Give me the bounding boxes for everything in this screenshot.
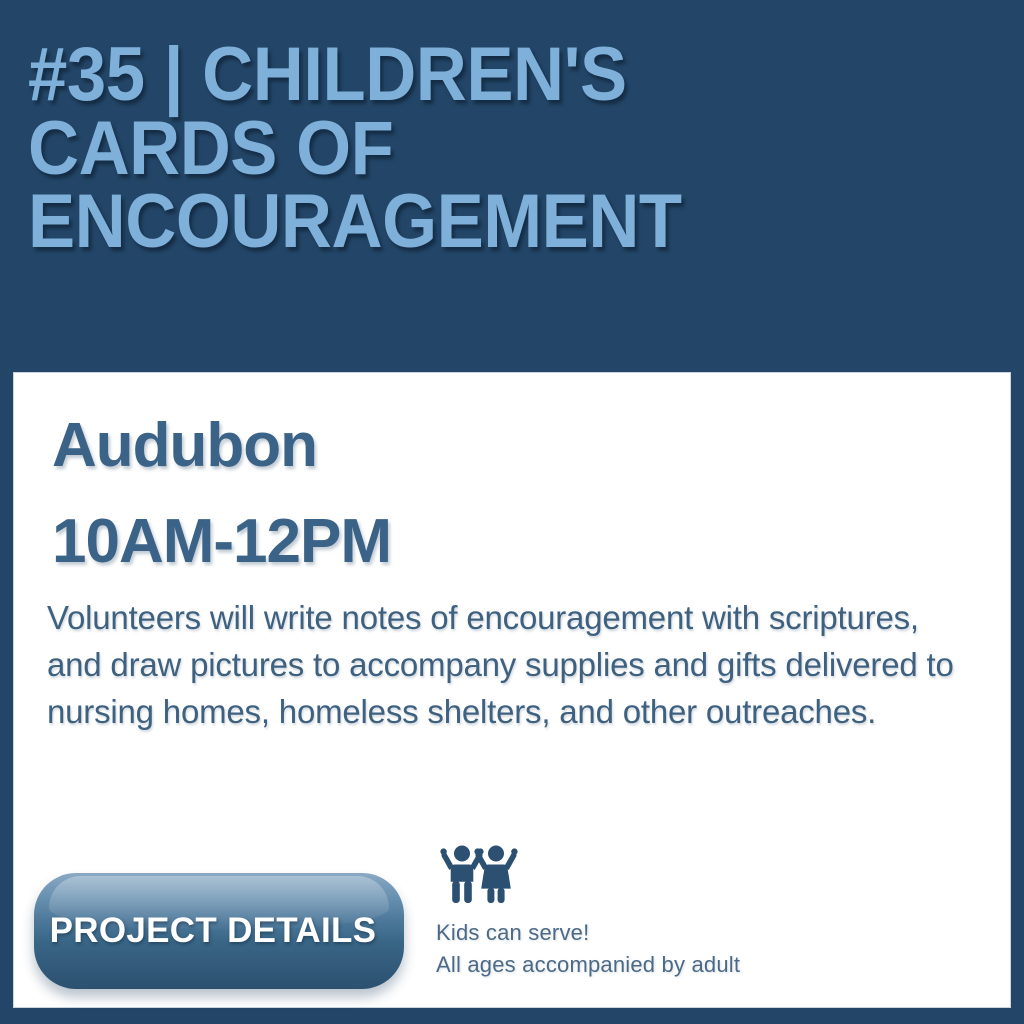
location-label: Audubon <box>52 415 980 477</box>
project-poster: #35 | CHILDREN'S CARDS OF ENCOURAGEMENT … <box>0 0 1024 1024</box>
title-line-2: CARDS OF <box>28 112 917 186</box>
two-children-icon <box>440 844 518 911</box>
kids-note-line-2: All ages accompanied by adult <box>436 949 740 981</box>
poster-title: #35 | CHILDREN'S CARDS OF ENCOURAGEMENT <box>28 38 984 259</box>
card-footer: PROJECT DETAILS <box>34 844 990 989</box>
project-card: Audubon 10AM-12PM Volunteers will write … <box>13 372 1011 1008</box>
project-details-button-label: PROJECT DETAILS <box>50 911 377 951</box>
title-line-3: ENCOURAGEMENT <box>28 185 917 259</box>
kids-note-block: Kids can serve! All ages accompanied by … <box>436 844 740 989</box>
card-content: Audubon 10AM-12PM Volunteers will write … <box>14 373 1010 1007</box>
title-line-1: #35 | CHILDREN'S <box>28 38 917 112</box>
project-details-button[interactable]: PROJECT DETAILS <box>34 873 404 989</box>
time-label: 10AM-12PM <box>52 511 980 573</box>
project-description: Volunteers will write notes of encourage… <box>47 595 980 736</box>
kids-note-line-1: Kids can serve! <box>436 917 589 949</box>
